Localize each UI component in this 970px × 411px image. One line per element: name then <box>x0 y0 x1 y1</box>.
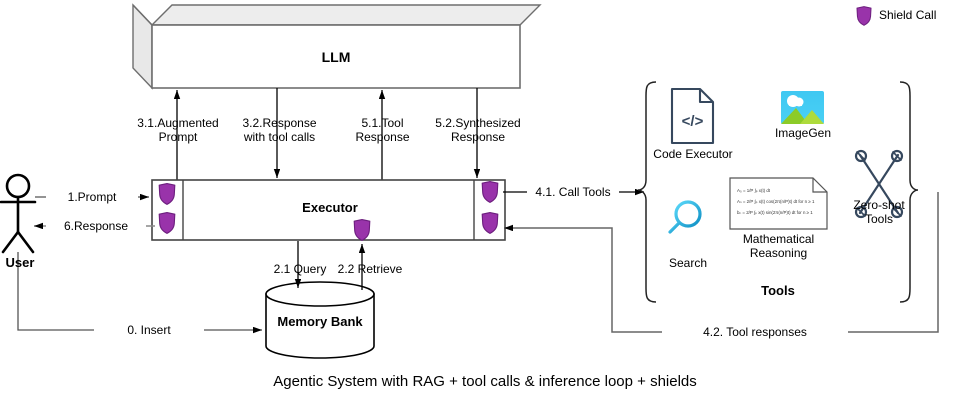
node-user[interactable] <box>1 175 35 252</box>
llm-left-face <box>133 5 152 88</box>
user-leg-left <box>3 232 18 252</box>
edge-insert <box>18 252 262 330</box>
diagram-canvas: LLM Executor <box>0 0 970 411</box>
edge-label-call-tools: 4.1. Call Tools <box>527 185 619 199</box>
llm-top-face <box>152 5 540 25</box>
tool-label-image-gen: ImageGen <box>763 126 843 140</box>
user-head <box>7 175 29 197</box>
node-memory-bank[interactable]: Memory Bank <box>266 282 374 358</box>
edge-label-insert: 0. Insert <box>94 323 204 337</box>
diagram-caption: Agentic System with RAG + tool calls & i… <box>0 375 970 389</box>
tool-label-zero-shot-tools: Zero-shot Tools <box>838 198 920 226</box>
svg-text:bₙ = 2/P ∫ₚ x(t) sin(2π(n/P)t): bₙ = 2/P ∫ₚ x(t) sin(2π(n/P)t) dt for n … <box>737 210 813 215</box>
edge-label-tool-responses: 4.2. Tool responses <box>662 325 848 339</box>
tool-code-executor[interactable]: </> <box>672 89 713 143</box>
edge-label-synthesized-response: 5.2.Synthesized Response <box>428 116 528 144</box>
llm-label: LLM <box>322 49 351 65</box>
edge-label-tool-response: 5.1.Tool Response <box>340 116 425 144</box>
node-executor[interactable]: Executor <box>152 180 505 240</box>
tools-group-label: Tools <box>761 283 795 298</box>
tool-label-math-reasoning: Mathematical Reasoning <box>722 232 835 260</box>
edge-label-response-tool-calls: 3.2.Response with tool calls <box>232 116 327 144</box>
tool-label-code-executor: Code Executor <box>642 147 744 161</box>
tool-label-search: Search <box>656 256 720 270</box>
memory-bank-label: Memory Bank <box>277 314 363 329</box>
user-leg-right <box>18 232 33 252</box>
legend-shield-icon <box>857 7 871 26</box>
edge-label-user-response: 6.Response <box>46 219 146 233</box>
edge-label-augmented-prompt: 3.1.Augmented Prompt <box>132 116 224 144</box>
tools-group-brace-right <box>900 82 918 302</box>
executor-label: Executor <box>302 200 358 215</box>
code-glyph: </> <box>682 113 704 130</box>
magnifier-icon <box>670 202 700 232</box>
memory-bank-top <box>266 282 374 306</box>
svg-text:Aₙ = 2/P ∫ₚ x(t) cos(2π(n/P)t): Aₙ = 2/P ∫ₚ x(t) cos(2π(n/P)t) dt for n … <box>737 199 815 204</box>
svg-text:A₀ = 1/P ∫ₚ x(t) dt: A₀ = 1/P ∫ₚ x(t) dt <box>737 188 771 193</box>
edge-label-retrieve: 2.2 Retrieve <box>332 262 408 276</box>
tool-search[interactable] <box>670 202 700 232</box>
tool-math-reasoning[interactable]: A₀ = 1/P ∫ₚ x(t) dt Aₙ = 2/P ∫ₚ x(t) cos… <box>730 178 827 229</box>
user-label: User <box>0 256 40 270</box>
tool-image-gen[interactable] <box>781 91 824 124</box>
node-llm[interactable]: LLM <box>133 5 540 88</box>
edge-label-query: 2.1 Query <box>268 262 332 276</box>
legend-label: Shield Call <box>879 8 967 22</box>
edge-label-prompt: 1.Prompt <box>46 190 138 204</box>
